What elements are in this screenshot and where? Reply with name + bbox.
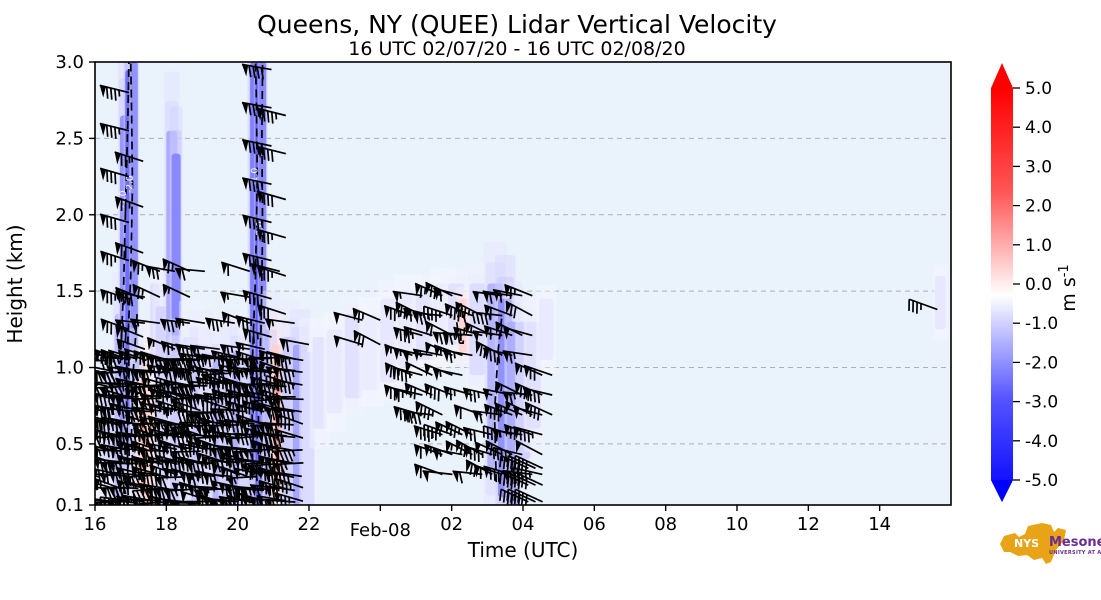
- logo-nys-text: NYS: [1014, 537, 1039, 550]
- x-tick-label: 22: [298, 514, 321, 535]
- logo-divider: [1043, 531, 1046, 553]
- y-tick-label: 1.5: [55, 281, 84, 302]
- x-tick-label-day: Feb-08: [350, 520, 411, 541]
- colorbar-tick-label: 3.0: [1025, 157, 1052, 177]
- lidar-vertical-velocity-figure: Queens, NY (QUEE) Lidar Vertical Velocit…: [0, 0, 1101, 600]
- y-tick-label: 3.0: [55, 52, 84, 73]
- y-tick-label: 2.0: [55, 205, 84, 226]
- colorbar-tick-label: -3.0: [1025, 393, 1058, 413]
- x-tick-label: 20: [226, 514, 249, 535]
- colorbar-tick-label: -5.0: [1025, 471, 1058, 491]
- x-tick-label: 10: [726, 514, 749, 535]
- colorbar-tick-label: -1.0: [1025, 314, 1058, 334]
- x-tick-label: 02: [440, 514, 463, 535]
- y-tick-label: 0.1: [55, 495, 84, 516]
- y-axis-label: Height (km): [3, 224, 27, 343]
- x-tick-label: 12: [797, 514, 820, 535]
- x-tick-label: 14: [868, 514, 891, 535]
- colorbar-tick-label: -2.0: [1025, 353, 1058, 373]
- contour-label: -1.0: [250, 167, 260, 185]
- y-tick-label: 0.5: [55, 434, 84, 455]
- x-tick-label: 08: [654, 514, 677, 535]
- x-tick-label: 16: [84, 514, 107, 535]
- x-axis-label: Time (UTC): [467, 538, 579, 562]
- colorbar-tick-label: 5.0: [1025, 79, 1052, 99]
- contour-label: -2.0: [125, 175, 135, 193]
- page-subtitle: 16 UTC 02/07/20 - 16 UTC 02/08/20: [348, 38, 685, 60]
- figure-root: Queens, NY (QUEE) Lidar Vertical Velocit…: [0, 0, 1101, 600]
- y-tick-label: 2.5: [55, 128, 84, 149]
- y-tick-label: 1.0: [55, 358, 84, 379]
- colorbar-tick-label: 2.0: [1025, 197, 1052, 217]
- logo-university-text: UNIVERSITY AT ALBANY: [1049, 550, 1101, 556]
- colorbar-tick-label: 1.0: [1025, 236, 1052, 256]
- colorbar-tick-label: 0.0: [1025, 275, 1052, 295]
- page-title: Queens, NY (QUEE) Lidar Vertical Velocit…: [257, 10, 777, 39]
- x-tick-label: 18: [155, 514, 178, 535]
- x-tick-label: 06: [583, 514, 606, 535]
- logo-mesonet-text: Mesonet: [1049, 535, 1101, 550]
- colorbar-tick-label: -4.0: [1025, 432, 1058, 452]
- x-tick-label: 04: [512, 514, 535, 535]
- colorbar-gradient: [991, 88, 1013, 502]
- colorbar-tick-label: 4.0: [1025, 118, 1052, 138]
